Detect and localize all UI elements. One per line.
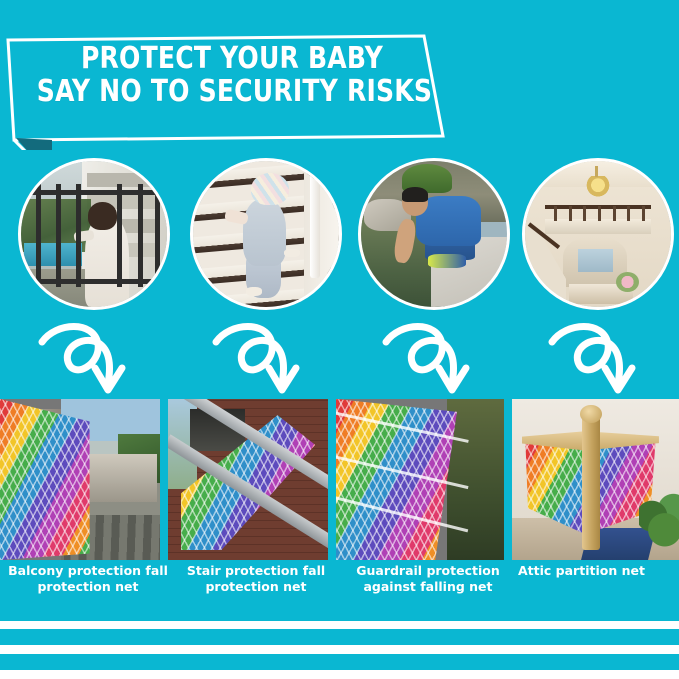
caption-line-1: Attic partition net [518,563,645,578]
page-title: PROTECT YOUR BABY SAY NO TO SECURITY RIS… [37,42,428,108]
hazard-photo-interior-landing [522,158,674,310]
product-photo-stair-net [168,399,328,560]
caption-line-2: against falling net [363,579,492,594]
footer-stripes [0,621,679,679]
footer-stripe [0,621,679,629]
caption-line-1: Stair protection fall [187,563,325,578]
product-caption-balcony: Balcony protection fall protection net [8,563,168,595]
product-photo-row [0,399,679,560]
product-caption-guardrail: Guardrail protection against falling net [344,563,512,595]
product-caption-stair: Stair protection fall protection net [176,563,336,595]
curly-down-arrow-icon [212,318,308,398]
headline-banner: PROTECT YOUR BABY SAY NO TO SECURITY RIS… [0,28,470,150]
footer-stripe [0,670,679,679]
hazard-photo-row [0,158,679,310]
product-caption-row: Balcony protection fall protection net S… [0,563,679,615]
product-caption-attic: Attic partition net [518,563,678,579]
transition-arrow-row [0,318,679,398]
caption-line-2: protection net [37,579,138,594]
curly-down-arrow-icon [548,318,644,398]
infographic-canvas: PROTECT YOUR BABY SAY NO TO SECURITY RIS… [0,0,679,679]
hazard-photo-toddler-balcony [18,158,170,310]
curly-down-arrow-icon [382,318,478,398]
product-photo-guardrail-net [336,399,504,560]
caption-line-1: Guardrail protection [356,563,500,578]
product-photo-attic-net [512,399,679,560]
title-line-2: SAY NO TO SECURITY RISKS [37,75,428,108]
caption-line-1: Balcony protection fall [8,563,168,578]
caption-line-2: protection net [205,579,306,594]
footer-stripe [0,645,679,654]
title-line-1: PROTECT YOUR BABY [37,42,428,75]
product-photo-balcony-net [0,399,160,560]
hazard-photo-baby-stairs [190,158,342,310]
curly-down-arrow-icon [38,318,134,398]
hazard-photo-boy-pond [358,158,510,310]
